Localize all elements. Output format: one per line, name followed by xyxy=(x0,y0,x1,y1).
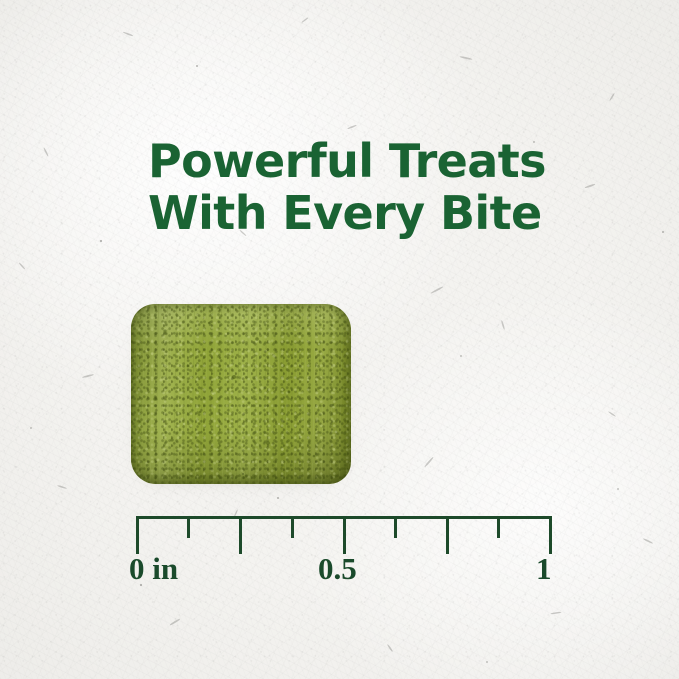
ruler-label-zero: 0 in xyxy=(129,549,178,589)
ruler-tick-minor-0875 xyxy=(497,516,500,538)
treat-edge-shading xyxy=(131,304,351,484)
ruler-tick-minor-0125 xyxy=(187,516,190,538)
treat-body xyxy=(131,304,351,484)
ruler-label-one: 1 xyxy=(536,549,552,589)
headline-line-1: Powerful Treats xyxy=(148,135,618,187)
product-scale-infographic: Powerful Treats With Every Bite xyxy=(0,0,679,679)
ruler-tick-minor-0625 xyxy=(394,516,397,538)
ruler-tick-minor-0375 xyxy=(291,516,294,538)
headline: Powerful Treats With Every Bite xyxy=(148,135,618,239)
product-treat-image xyxy=(131,304,351,484)
ruler-label-group: 0 in 0.5 1 xyxy=(0,549,679,599)
ruler-label-half: 0.5 xyxy=(318,549,357,589)
headline-line-2: With Every Bite xyxy=(148,187,618,239)
